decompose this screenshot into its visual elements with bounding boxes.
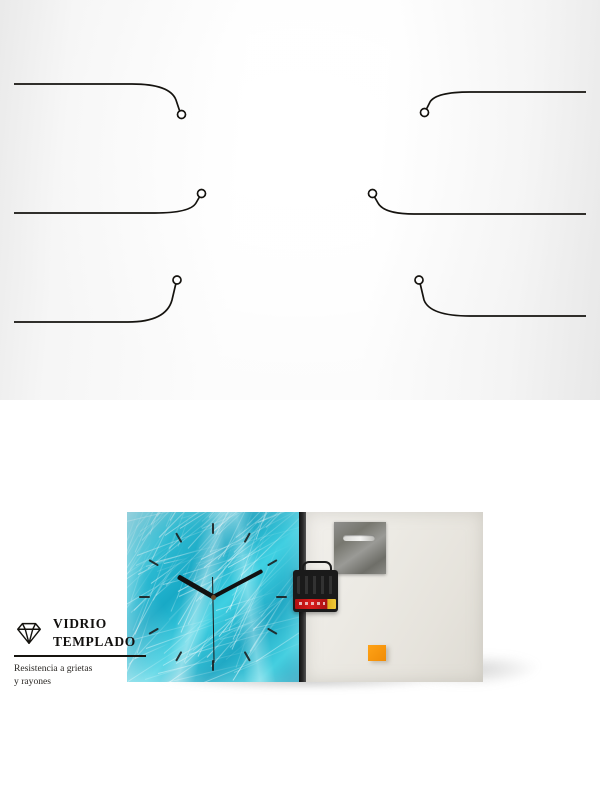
hour-mark-bar [175,532,182,543]
hour-mark [148,596,213,635]
feature-title: VIDRIO TEMPLADO [53,615,136,651]
hour-mark-bar [175,651,182,662]
feature-description: Resistencia a grietas y rayones [14,662,146,688]
foam-spacer [368,645,386,661]
clock-back-panel [306,512,483,682]
hour-mark-bar [276,596,287,598]
clock-face [127,512,299,682]
hour-mark-bar [148,628,159,635]
battery [295,599,336,609]
hour-mark-bar [244,532,251,543]
hanger-loop [302,561,332,574]
mechanism-vents [297,576,333,594]
diamond-icon [14,618,44,648]
hour-mark [139,596,213,598]
hour-mark-bar [267,628,278,635]
product-image [127,512,472,682]
hour-mark-bar [148,559,159,566]
hour-mark-bar [212,523,214,534]
hour-mark-bar [139,596,150,598]
hand-cap [211,595,216,600]
infographic-canvas: VIDRIO TEMPLADO Resistencia a grietas y … [0,0,600,400]
feature-vidrio-templado: VIDRIO TEMPLADO Resistencia a grietas y … [14,615,146,689]
divider [14,655,146,657]
clock-mechanism [293,570,338,612]
hour-mark [213,596,287,598]
leader-lines [0,0,600,400]
metal-hanger [334,522,386,574]
hour-mark-bar [267,559,278,566]
hour-mark-bar [244,651,251,662]
